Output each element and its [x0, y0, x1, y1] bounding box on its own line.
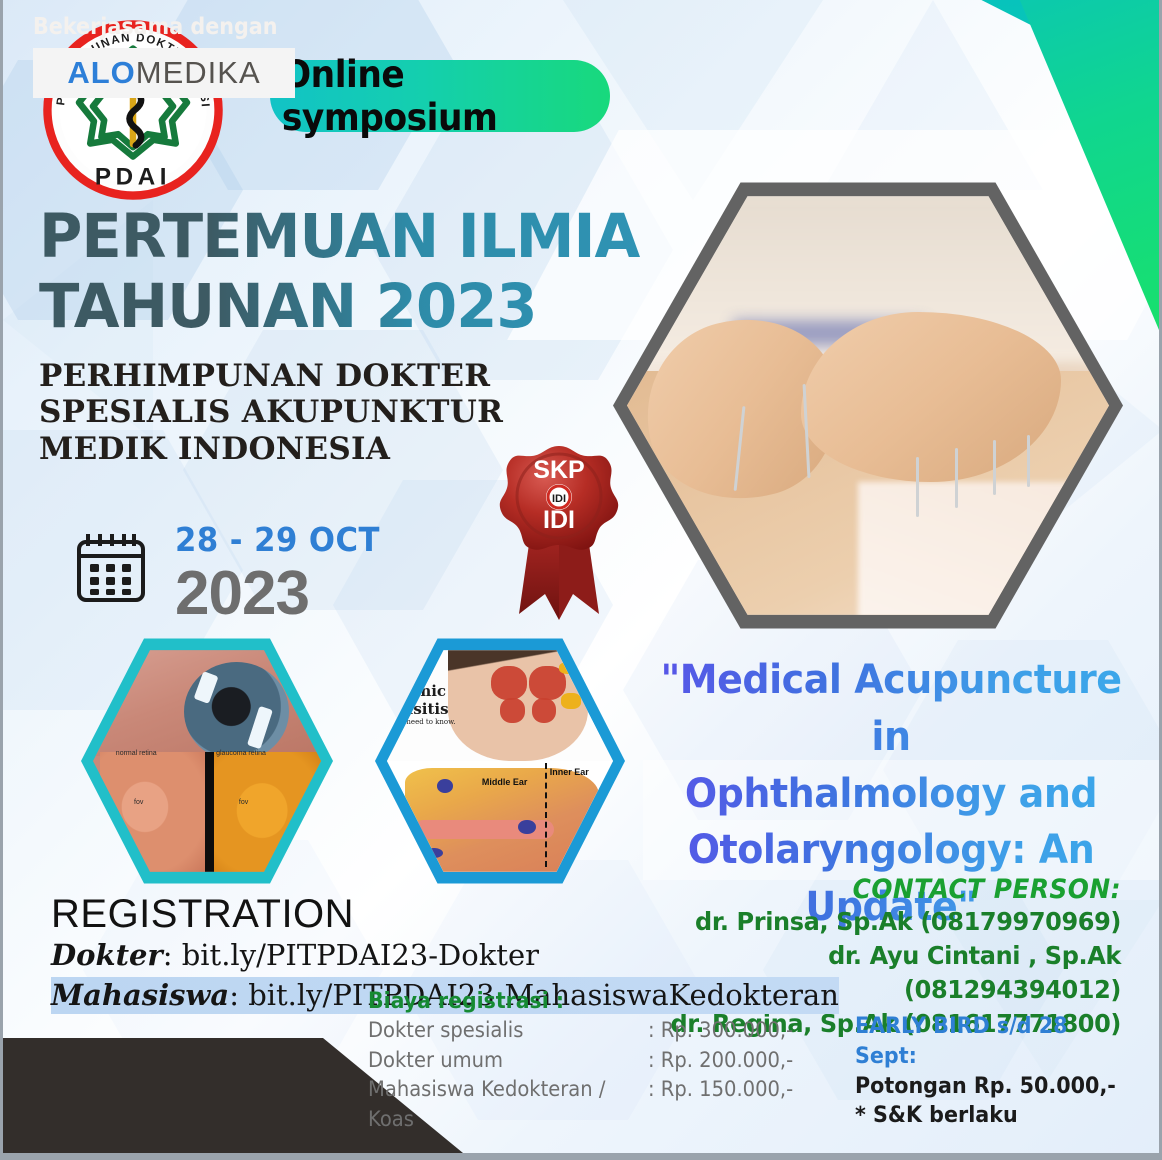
svg-text:PDAI: PDAI: [95, 163, 171, 190]
registration-heading: REGISTRATION: [51, 893, 691, 935]
fee-row: Mahasiswa Kedokteran / Koas : Rp. 150.00…: [368, 1075, 838, 1135]
eye-label-glaucoma: glaucoma retina: [216, 750, 266, 757]
online-symposium-label: Online symposium: [282, 53, 598, 139]
early-bird-discount: Potongan Rp. 50.000,-: [855, 1072, 1118, 1102]
seal-skp-text: SKP: [533, 456, 584, 484]
ent-label-inner-ear: Inner Ear: [550, 767, 589, 777]
early-bird-note: * S&K berlaku: [855, 1101, 1118, 1131]
alomedika-logo: ALOMEDIKA: [33, 48, 295, 98]
online-symposium-badge: Online symposium: [270, 60, 610, 132]
alomedika-alo: ALO: [67, 55, 135, 90]
page-title-line2: TAHUNAN 2023: [39, 278, 640, 336]
early-bird-heading: EARLY BIRD s/d 28 Sept:: [855, 1012, 1118, 1071]
registration-dokter-label: Dokter: [51, 938, 163, 972]
registration-dokter-link[interactable]: : bit.ly/PITPDAI23-Dokter: [163, 938, 539, 972]
partner-label: Bekerjasama dengan: [33, 14, 277, 40]
seal-idi-text: IDI: [543, 506, 575, 534]
fee-price: : Rp. 300.000,-: [648, 1016, 793, 1046]
eye-retina-hexagon-image: normal retina glaucoma retina fov fov: [81, 636, 333, 886]
fee-name: Mahasiswa Kedokteran / Koas: [368, 1075, 628, 1135]
fee-price: : Rp. 200.000,-: [648, 1046, 793, 1076]
skp-idi-seal: SKP IDI IDI: [495, 442, 623, 632]
fee-price: : Rp. 150.000,-: [648, 1075, 793, 1135]
theme-line-2: Ophthalmology and: [644, 766, 1138, 823]
eye-label-fovea: fov: [239, 799, 248, 806]
svg-text:IDI: IDI: [552, 493, 566, 505]
event-year: 2023: [175, 563, 395, 625]
fee-block: Biaya registrasi : Dokter spesialis : Rp…: [368, 989, 838, 1135]
contact-person-heading: CONTACT PERSON:: [689, 874, 1121, 905]
fee-name: Dokter umum: [368, 1046, 628, 1076]
bg-triangle: [823, 0, 1043, 190]
event-date-row: 28 - 29 OCT 2023: [75, 520, 395, 625]
registration-mahasiswa-label: Mahasiswa: [51, 978, 229, 1012]
fee-row: Dokter umum : Rp. 200.000,-: [368, 1046, 838, 1076]
alomedika-wordmark: ALOMEDIKA: [67, 55, 260, 91]
ent-anatomy-hexagon-image: hronic nusitis you need to know. Inner E…: [375, 636, 625, 886]
calendar-icon: [75, 528, 147, 604]
contact-person-1: dr. Prinsa, Sp.Ak (08179970969): [670, 905, 1121, 939]
page-title-line1: PERTEMUAN ILMIAH: [39, 208, 640, 266]
early-bird-block: EARLY BIRD s/d 28 Sept: Potongan Rp. 50.…: [855, 1012, 1135, 1131]
title-block: PERTEMUAN ILMIAH TAHUNAN 2023 PERHIMPUNA…: [39, 208, 659, 468]
eye-label-fovea: fov: [134, 799, 143, 806]
ent-label-middle-ear: Middle Ear: [482, 777, 528, 787]
poster-root: PERHIMPUNAN DOKTER SPESIALIS AKUPUNKTUR …: [0, 0, 1162, 1160]
pdai-logo: PERHIMPUNAN DOKTER SPESIALIS AKUPUNKTUR …: [40, 17, 226, 203]
theme-line-1: "Medical Acupuncture in: [644, 652, 1138, 766]
fee-name: Dokter spesialis: [368, 1016, 628, 1046]
fee-heading: Biaya registrasi :: [368, 989, 805, 1014]
event-date-range: 28 - 29 OCT: [175, 520, 380, 559]
date-text-group: 28 - 29 OCT 2023: [175, 520, 395, 625]
alomedika-medika: MEDIKA: [136, 55, 261, 90]
fee-row: Dokter spesialis : Rp. 300.000,-: [368, 1016, 838, 1046]
acupuncture-hexagon-image: [613, 178, 1123, 633]
eye-label-normal: normal retina: [116, 750, 157, 757]
registration-dokter-row: Dokter: bit.ly/PITPDAI23-Dokter: [51, 937, 691, 975]
